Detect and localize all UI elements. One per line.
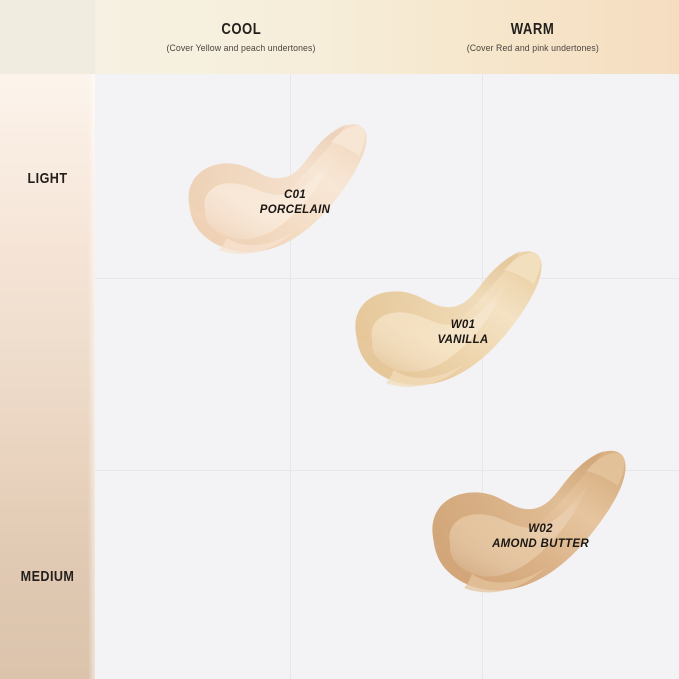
header-title-cool: COOL [221,21,261,39]
header-column-warm: WARM (Cover Red and pink undertones) [387,0,679,74]
header-title-warm: WARM [511,21,555,39]
shade-finder-chart: COOL (Cover Yellow and peach undertones)… [0,0,679,679]
depth-label-light: LIGHT [8,170,88,187]
depth-label-medium: MEDIUM [8,568,88,585]
header-column-cool: COOL (Cover Yellow and peach undertones) [95,0,387,74]
swatch-plot-area: C01 PORCELAIN [95,74,679,679]
depth-sidebar [0,74,95,679]
header-subtitle-cool: (Cover Yellow and peach undertones) [166,43,315,54]
undertone-header: COOL (Cover Yellow and peach undertones)… [95,0,679,74]
depth-sidebar-edge [88,74,95,679]
chart-corner-block [0,0,95,74]
swatch-w01-vanilla[interactable]: W01 VANILLA [348,242,553,407]
header-subtitle-warm: (Cover Red and pink undertones) [467,43,599,54]
swatch-w02-amond-butter[interactable]: W02 AMOND BUTTER [425,442,635,612]
